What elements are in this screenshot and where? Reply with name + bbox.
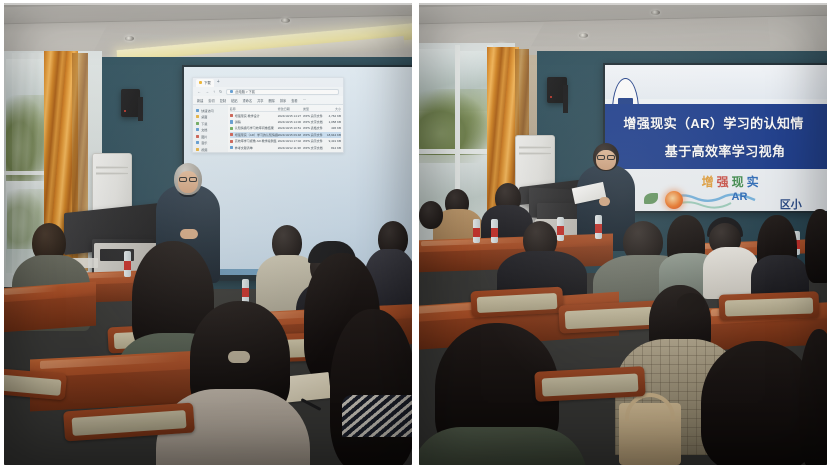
explorer-titlebar: 下载 + <box>193 78 343 87</box>
glasses-icon <box>597 155 605 160</box>
audience-hair <box>805 209 827 283</box>
file-name: 参考文献清单 <box>235 146 253 150</box>
photo-top-edge <box>4 3 412 5</box>
pc-icon <box>230 90 233 93</box>
lecturer-hands <box>180 229 198 239</box>
toolbar-view[interactable]: 查看 <box>291 98 297 103</box>
toolbar-sort[interactable]: 排序 <box>280 98 286 103</box>
explorer-toolbar: 新建 剪切 复制 粘贴 重命名 共享 删除 排序 查看 ··· <box>193 96 343 105</box>
toolbar-copy[interactable]: 复制 <box>220 98 226 103</box>
sidebar-label: 快速访问 <box>201 108 213 113</box>
chair-pad <box>541 373 639 397</box>
hair-bun <box>677 293 705 315</box>
file-size: 812 KB <box>326 146 341 150</box>
chair-back <box>470 287 563 318</box>
file-icon <box>230 133 233 136</box>
left-photo: 下载 + ← → ↑ ↻ 此电脑 > 下载 新建 剪切 复制 粘贴 重命名 <box>4 3 412 465</box>
sidebar-label: 文档 <box>201 127 207 132</box>
front-audience-head <box>419 201 443 229</box>
sidebar-label: 图片 <box>201 134 207 139</box>
sidebar-item-this-pc[interactable]: 此电脑 <box>196 153 226 154</box>
file-size: 436 KB <box>326 126 341 130</box>
file-type: WPS 演示文件 <box>303 139 326 143</box>
file-date: 2024/10/15 14:06 <box>278 120 303 124</box>
chair-pad <box>565 307 654 329</box>
file-icon <box>230 120 233 123</box>
videos-icon <box>196 148 199 151</box>
slide-decor-mark: AR <box>732 191 748 203</box>
slide-header-band <box>605 65 827 99</box>
explorer-file-list: 名称 修改日期 类型 大小 增强现实 教学设计2024/10/15 14:27W… <box>228 105 343 153</box>
ceiling-panel <box>531 18 770 46</box>
photo-pair-sheet: 下载 + ← → ↑ ↻ 此电脑 > 下载 新建 剪切 复制 粘贴 重命名 <box>0 0 832 468</box>
back-icon[interactable]: ← <box>197 89 201 94</box>
sidebar-label: 桌面 <box>201 114 207 119</box>
bottle-label <box>557 226 564 235</box>
speaker-power-led <box>550 96 552 98</box>
downlight-icon <box>651 10 660 15</box>
sidebar-label: 视频 <box>201 147 207 152</box>
address-bar[interactable]: 此电脑 > 下载 <box>226 89 339 95</box>
hair-tie <box>228 351 250 363</box>
right-photo: 增强现实（AR）学习的认知情 基于高效率学习视角 增强现实 AR 区小 <box>419 3 827 465</box>
ac-vent <box>519 152 551 155</box>
file-type: WPS 演示文件 <box>303 114 326 118</box>
file-icon <box>230 114 233 117</box>
explorer-navbar: ← → ↑ ↻ 此电脑 > 下载 <box>193 87 343 96</box>
file-icon <box>230 127 233 130</box>
slide-sun-graphic <box>665 191 683 209</box>
chair-pad <box>71 410 186 437</box>
speaker-bracket <box>563 85 568 113</box>
column-name[interactable]: 名称 <box>230 107 278 111</box>
chair-pad <box>476 293 558 313</box>
chair-pad <box>725 297 814 316</box>
download-icon <box>196 122 199 125</box>
sidebar-label: 音乐 <box>201 140 207 145</box>
bottle-label <box>595 224 602 233</box>
bottle-label <box>473 228 480 237</box>
file-icon <box>230 140 233 143</box>
chair-back <box>719 291 820 320</box>
pin-icon <box>196 109 199 112</box>
explorer-sidebar: 快速访问 桌面 下载 文档 图片 音乐 视频 此电脑 网络 <box>193 105 228 153</box>
file-name: 增强现实 教学设计 <box>235 114 260 118</box>
speaker-bracket <box>138 97 143 121</box>
glasses-icon <box>179 177 187 182</box>
toolbar-more[interactable]: ··· <box>303 98 306 102</box>
downlight-icon <box>281 18 290 23</box>
glasses-icon <box>189 177 197 182</box>
folder-icon <box>199 81 202 84</box>
explorer-tab[interactable]: 下载 <box>196 79 214 87</box>
file-date: 2024/10/15 10:51 <box>278 126 303 130</box>
slide-leaf-graphic <box>644 193 658 204</box>
ac-vent <box>96 166 128 169</box>
file-type: WPS 表格文件 <box>303 126 326 130</box>
toolbar-share[interactable]: 共享 <box>257 98 263 103</box>
file-date: 2024/10/15 14:27 <box>278 114 303 118</box>
address-path: 此电脑 > 下载 <box>235 89 255 94</box>
desktop-icon <box>196 115 199 118</box>
file-name: 高效率学习视角 AR 教学案例集 <box>235 139 277 143</box>
up-icon[interactable]: ↑ <box>213 89 215 94</box>
collar-stripes <box>342 395 412 437</box>
toolbar-delete[interactable]: 删除 <box>268 98 274 103</box>
file-size: 4,762 KB <box>326 114 341 118</box>
column-size[interactable]: 大小 <box>326 107 341 111</box>
file-date: 2024/10/12 11:38 <box>278 146 303 150</box>
explorer-tab-label: 下载 <box>204 80 211 85</box>
file-icon <box>230 146 233 149</box>
toolbar-paste[interactable]: 粘贴 <box>231 98 237 103</box>
ac-vent <box>96 172 128 175</box>
toolbar-new[interactable]: 新建 <box>197 98 203 103</box>
new-tab-button[interactable]: + <box>217 80 220 85</box>
file-explorer-window[interactable]: 下载 + ← → ↑ ↻ 此电脑 > 下载 新建 剪切 复制 粘贴 重命名 <box>192 77 344 153</box>
forward-icon[interactable]: → <box>205 89 209 94</box>
photo-top-edge <box>419 3 827 5</box>
speaker-power-led <box>124 110 126 112</box>
explorer-body: 快速访问 桌面 下载 文档 图片 音乐 视频 此电脑 网络 名称 修改日期 类型… <box>193 105 343 153</box>
chair-pad <box>4 374 62 396</box>
file-size: 9,431 KB <box>326 139 341 143</box>
foreground-hair-far-right <box>799 329 827 465</box>
pictures-icon <box>196 135 199 138</box>
file-name: 增强现实（AR）学习的认知情绪研究 <box>235 133 278 137</box>
column-type[interactable]: 类型 <box>303 107 326 111</box>
file-date: 2024/10/14 17:02 <box>278 139 303 143</box>
file-type: WPS 文字文档 <box>303 146 326 150</box>
music-icon <box>196 141 199 144</box>
file-size: 1,058 KB <box>326 120 341 124</box>
file-type: WPS 文字文档 <box>303 120 326 124</box>
presenter-face <box>596 150 616 170</box>
slide-title-line2: 基于高效率学习视角 <box>665 141 786 160</box>
file-name: 认知情绪与学习效率问卷结果 <box>235 126 274 130</box>
lecturer-face <box>178 171 198 193</box>
chair-back-left <box>4 368 67 401</box>
refresh-icon[interactable]: ↻ <box>219 89 222 94</box>
toolbar-cut[interactable]: 剪切 <box>208 98 214 103</box>
chair-back-front <box>534 366 645 402</box>
bottle-label <box>491 228 498 237</box>
slide-footer-fragment: 区小 <box>780 196 802 211</box>
glasses-icon <box>607 155 615 160</box>
chair-back <box>558 300 659 333</box>
downlight-icon <box>579 33 588 38</box>
bottle-label <box>124 261 131 270</box>
documents-icon <box>196 128 199 131</box>
column-date[interactable]: 修改日期 <box>278 107 303 111</box>
slide-title-line1: 增强现实（AR）学习的认知情 <box>623 113 803 132</box>
file-size: 18,944 KB <box>326 133 341 137</box>
toolbar-rename[interactable]: 重命名 <box>243 98 253 103</box>
file-name: 讲稿 <box>235 120 241 124</box>
table-row[interactable]: 参考文献清单2024/10/12 11:38WPS 文字文档812 KB <box>230 144 341 150</box>
file-type: WPS 演示文件 <box>303 133 326 137</box>
file-date: 2024/10/15 09:48 <box>278 133 303 137</box>
presentation-slide: 增强现实（AR）学习的认知情 基于高效率学习视角 增强现实 AR 区小 <box>605 65 827 211</box>
downlight-icon <box>125 36 134 41</box>
ac-vent <box>519 146 551 149</box>
sidebar-label: 下载 <box>201 121 207 126</box>
foreground-hair-right <box>330 309 412 465</box>
presenter-hand <box>599 197 610 206</box>
bottle-label <box>242 288 249 297</box>
foreground-body-left <box>419 427 587 465</box>
